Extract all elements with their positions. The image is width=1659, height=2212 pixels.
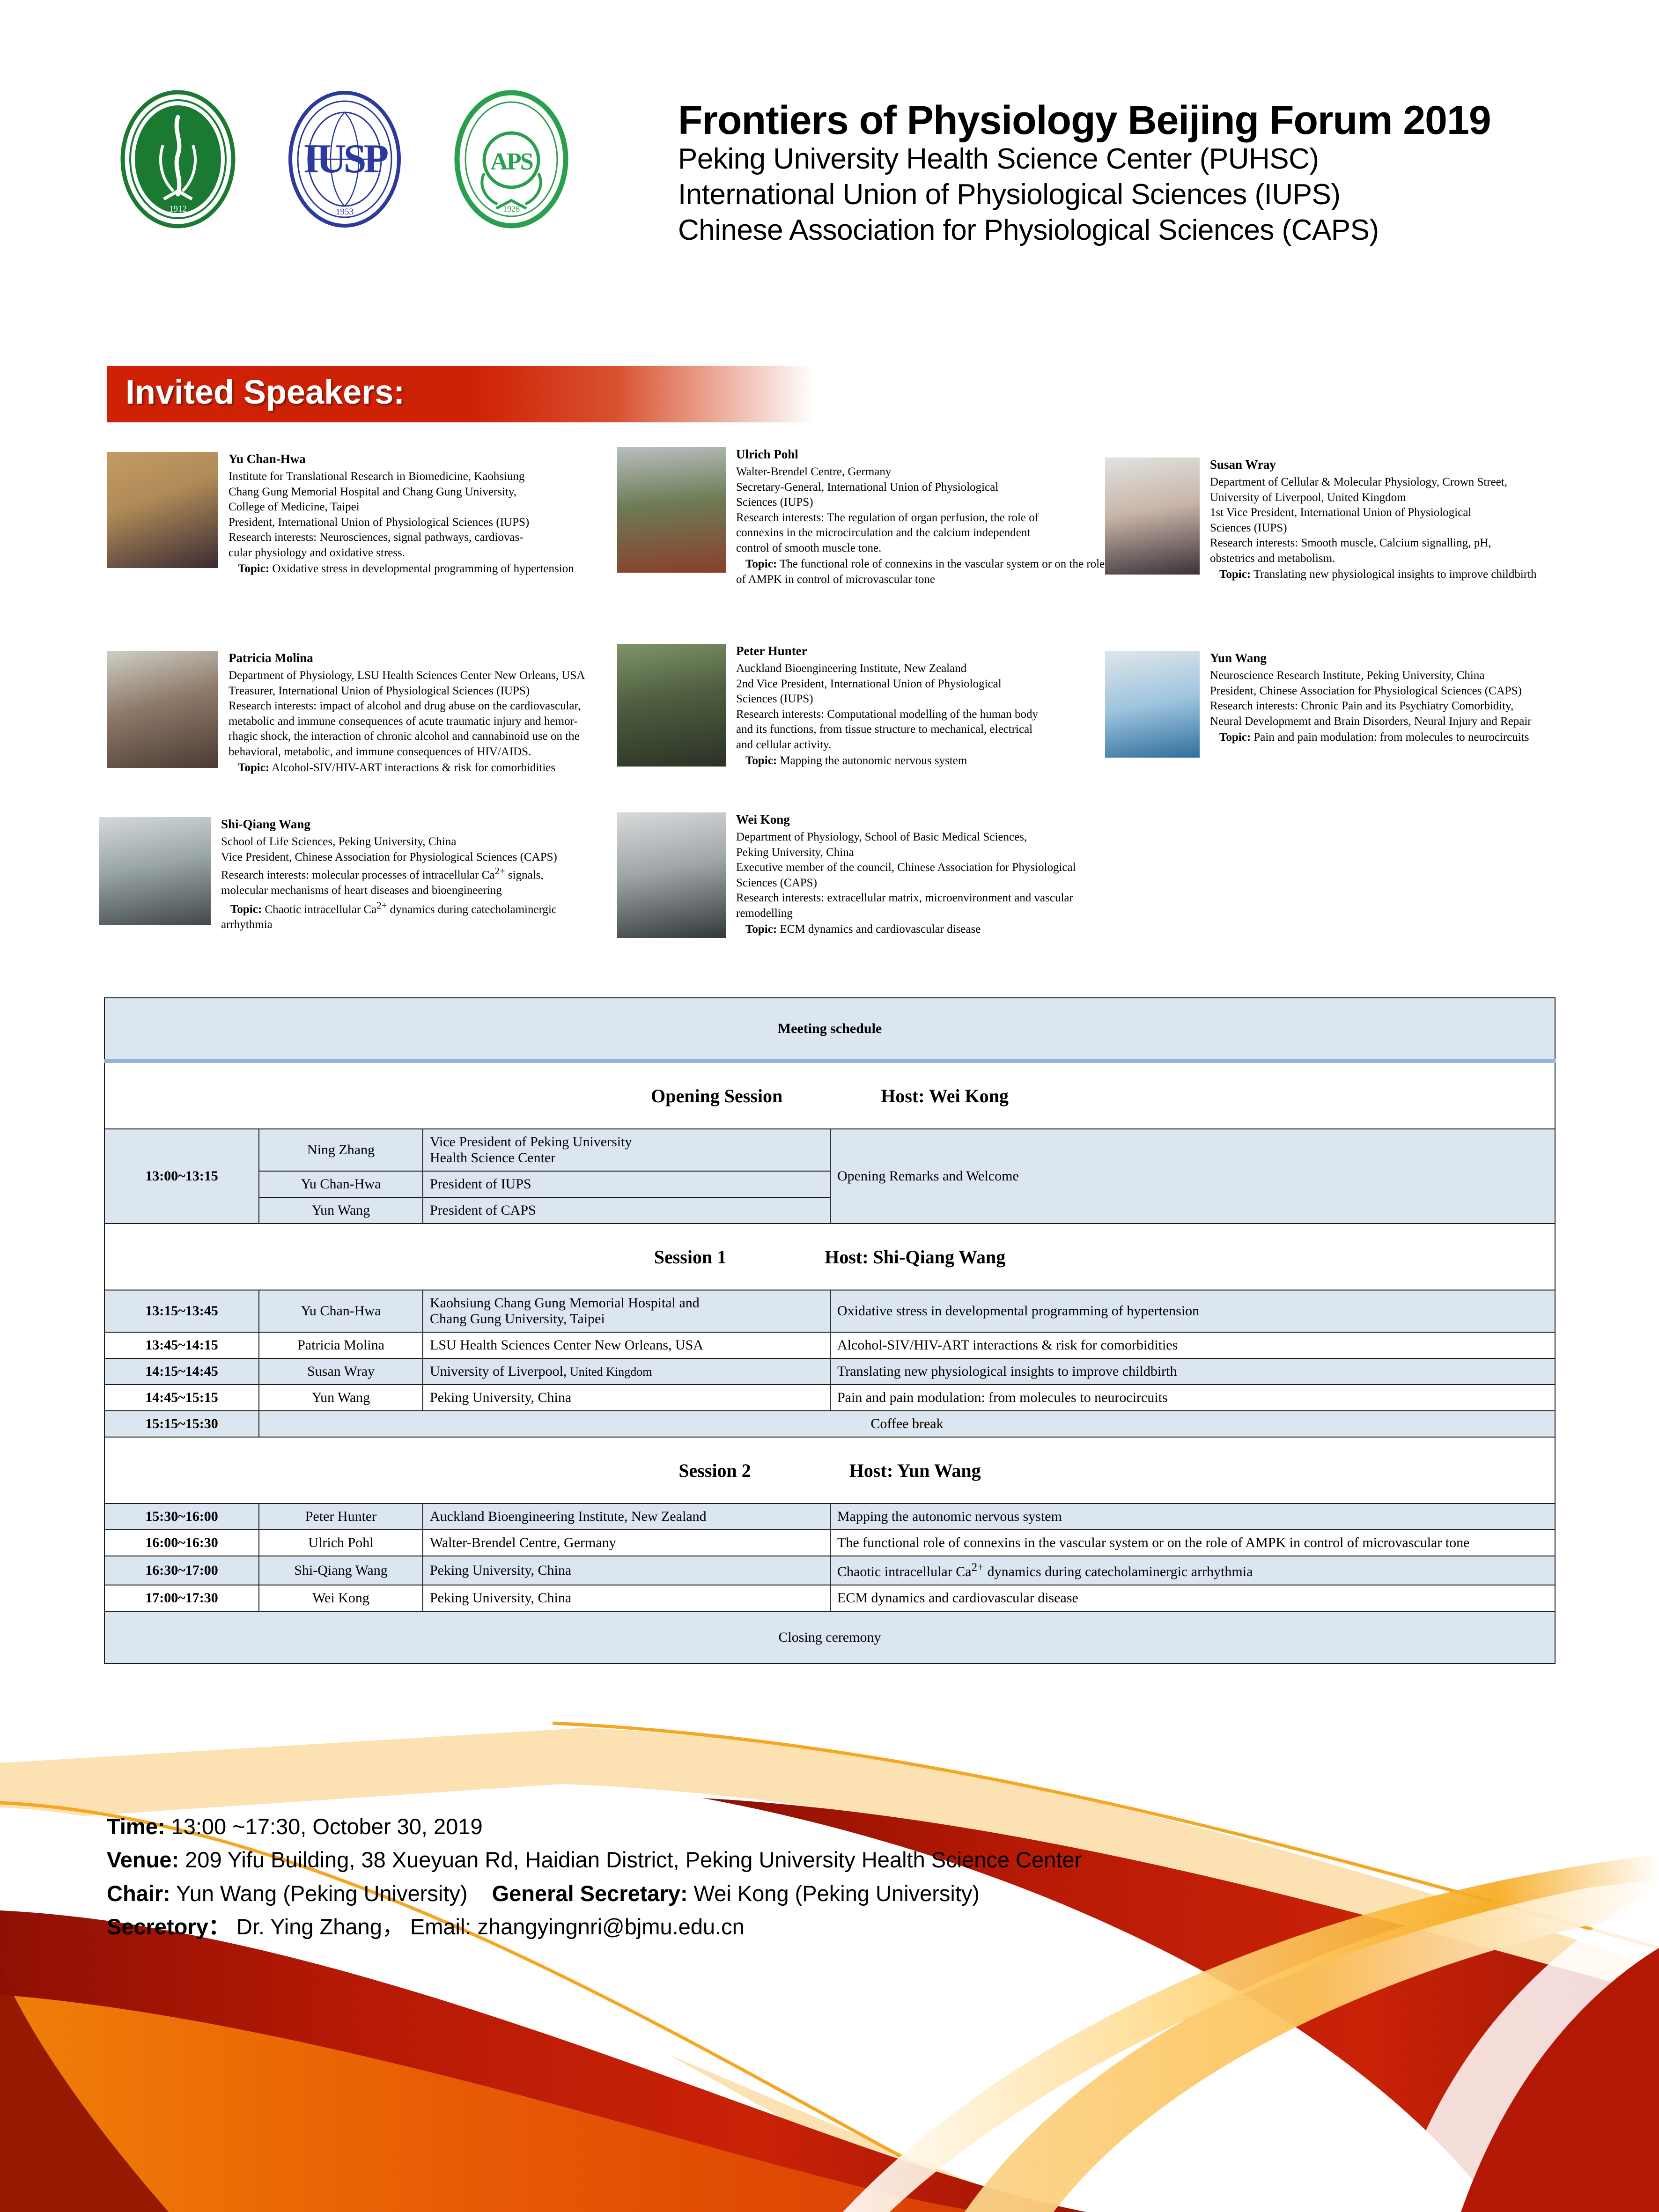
footer-time-line: Time: 13:00 ~17:30, October 30, 2019 [107,1810,1082,1843]
footer-secretory-line: Secretory： Dr. Ying Zhang， Email: zhangy… [107,1910,1082,1943]
table-row-opening-header: Opening Session Host: Wei Kong [104,1061,1555,1129]
speaker-name: Ulrich Pohl [736,447,1111,462]
speaker-line: connexins in the microcirculation and th… [736,525,1111,541]
speaker-line: obstetrics and metabolism. [1210,551,1589,567]
speaker-name: Shi-Qiang Wang [221,817,596,832]
topic-text: The functional role of connexins in the … [736,558,1105,586]
speaker-photo [1105,651,1200,758]
speaker-line: Treasurer, International Union of Physio… [229,684,603,699]
speaker-line: Neural Developmemt and Brain Disorders, … [1210,714,1589,730]
speaker-card-shi-qiang-wang: Shi-Qiang Wang School of Life Sciences, … [99,817,600,933]
org-line-1: Peking University Health Science Center … [678,141,1491,177]
table-row: 14:45~15:15 Yun Wang Peking University, … [104,1385,1555,1411]
cell-closing-label: Closing ceremony [104,1611,1555,1664]
table-row-closing: Closing ceremony [104,1611,1555,1664]
cell-topic: Pain and pain modulation: from molecules… [830,1385,1555,1411]
session1-host: Host: Shi-Qiang Wang [825,1246,1005,1268]
session2-host: Host: Yun Wang [849,1460,981,1482]
table-row-title: Meeting schedule [104,998,1555,1061]
speaker-topic: Topic: Mapping the autonomic nervous sys… [736,753,1111,769]
cell-topic: Chaotic intracellular Ca2+ dynamics duri… [830,1556,1555,1585]
speaker-topic: Topic: Translating new physiological ins… [1210,567,1589,582]
cell-name: Ulrich Pohl [259,1530,423,1556]
cell-name: Patricia Molina [259,1332,423,1358]
speaker-line: Research interests: impact of alcohol an… [229,699,603,714]
speaker-name: Susan Wray [1210,457,1589,472]
chair-label: Chair: [107,1881,170,1906]
role-line-2: Health Science Center [430,1150,823,1166]
session1-label: Session 1 [654,1246,727,1268]
speaker-line: Research interests: molecular processes … [221,865,596,883]
speaker-topic: Topic: Oxidative stress in developmental… [229,561,598,577]
topic-text: Translating new physiological insights t… [1253,568,1537,581]
speaker-line: College of Medicine, Taipei [229,500,598,515]
cell-affiliation: University of Liverpool, United Kingdom [423,1358,830,1385]
time-label: Time: [107,1814,165,1839]
cell-topic: Alcohol-SIV/HIV-ART interactions & risk … [830,1332,1555,1358]
cell-affiliation: Peking University, China [423,1585,830,1611]
speaker-line: molecular mechanisms of heart diseases a… [221,883,596,899]
speaker-line: Chang Gung Memorial Hospital and Chang G… [229,485,598,500]
speaker-topic: Topic: The functional role of connexins … [736,557,1111,587]
speaker-photo [617,812,726,938]
speaker-line: Peking University, China [736,845,1111,861]
svg-text:IUSP: IUSP [303,136,388,182]
speaker-line: School of Life Sciences, Peking Universi… [221,834,596,850]
speaker-line: Auckland Bioengineering Institute, New Z… [736,661,1111,677]
table-row: 16:30~17:00 Shi-Qiang Wang Peking Univer… [104,1556,1555,1585]
footer-chair-line: Chair: Yun Wang (Peking University)Gener… [107,1877,1082,1910]
table-row-coffee-break: 15:15~15:30 Coffee break [104,1411,1555,1437]
speaker-line: Sciences (IUPS) [736,692,1111,707]
topic-text: Mapping the autonomic nervous system [780,754,967,767]
role-line-1: Vice President of Peking University [430,1134,823,1150]
aff-line-1: Kaohsiung Chang Gung Memorial Hospital a… [430,1295,823,1311]
cell-affiliation: Peking University, China [423,1385,830,1411]
cell-time: 13:45~14:15 [104,1332,259,1358]
speaker-line: control of smooth muscle tone. [736,541,1111,556]
speaker-photo [1105,457,1200,575]
topic-text: Chaotic intracellular Ca2+ dynamics duri… [221,903,557,931]
speaker-line: and cellular activity. [736,737,1111,753]
topic-label: Topic: [238,562,269,575]
time-value: 13:00 ~17:30, October 30, 2019 [165,1814,483,1839]
speaker-line: Walter-Brendel Centre, Germany [736,465,1111,480]
cell-name: Wei Kong [259,1585,423,1611]
cell-affiliation: Walter-Brendel Centre, Germany [423,1530,830,1556]
schedule-title: Meeting schedule [104,998,1555,1061]
page-title: Frontiers of Physiology Beijing Forum 20… [678,99,1491,141]
speaker-line: President, International Union of Physio… [229,515,598,531]
speaker-card-yun-wang: Yun Wang Neuroscience Research Institute… [1105,651,1601,758]
speaker-photo [107,651,218,768]
speaker-photo [617,447,726,573]
speaker-line: Vice President, Chinese Association for … [221,850,596,865]
speaker-card-wei-kong: Wei Kong Department of Physiology, Schoo… [617,812,1123,938]
speaker-line: Research interests: The regulation of or… [736,510,1111,526]
table-row: 17:00~17:30 Wei Kong Peking University, … [104,1585,1555,1611]
cell-topic: ECM dynamics and cardiovascular disease [830,1585,1555,1611]
speaker-line: President, Chinese Association for Physi… [1210,684,1589,699]
cell-time: 13:15~13:45 [104,1290,259,1332]
speaker-line: remodelling [736,906,1111,922]
speaker-name: Yun Wang [1210,651,1589,665]
cell-affiliation: LSU Health Sciences Center New Orleans, … [423,1332,830,1358]
topic-label: Topic: [1219,568,1251,581]
speaker-line: Research interests: Chronic Pain and its… [1210,699,1589,714]
cell-affiliation: Kaohsiung Chang Gung Memorial Hospital a… [423,1290,830,1332]
svg-text:APS: APS [490,148,532,175]
cell-time: 14:45~15:15 [104,1385,259,1411]
topic-text: Pain and pain modulation: from molecules… [1253,731,1529,744]
cell-topic: Mapping the autonomic nervous system [830,1504,1555,1530]
cell-topic: Oxidative stress in developmental progra… [830,1290,1555,1332]
table-row: 15:30~16:00 Peter Hunter Auckland Bioeng… [104,1504,1555,1530]
poster-header: 1912 IUSP 1953 APS 1926 [0,89,1659,290]
cell-time: 16:00~16:30 [104,1530,259,1556]
topic-text: Oxidative stress in developmental progra… [272,562,574,575]
speaker-line: Research interests: Smooth muscle, Calci… [1210,536,1589,551]
iups-logo: IUSP 1953 [274,89,415,229]
speaker-name: Peter Hunter [736,644,1111,658]
title-block: Frontiers of Physiology Beijing Forum 20… [678,99,1491,248]
topic-label: Topic: [745,754,777,767]
cell-role: Vice President of Peking University Heal… [423,1129,830,1171]
venue-label: Venue: [107,1847,179,1872]
speaker-line: Secretary-General, International Union o… [736,480,1111,495]
svg-text:1912: 1912 [169,204,187,214]
aff-line-2: Chang Gung University, Taipei [430,1311,823,1327]
table-row: 14:15~14:45 Susan Wray University of Liv… [104,1358,1555,1385]
speaker-photo [107,452,218,568]
meeting-schedule-table: Meeting schedule Opening Session Host: W… [104,997,1556,1664]
cell-affiliation: Peking University, China [423,1556,830,1585]
chair-value: Yun Wang (Peking University) [170,1881,468,1906]
speaker-topic: Topic: Pain and pain modulation: from mo… [1210,730,1589,745]
topic-label: Topic: [1219,731,1251,744]
speaker-line: behavioral, metabolic, and immune conseq… [229,745,603,760]
speaker-line: Sciences (IUPS) [736,495,1111,510]
venue-value: 209 Yifu Building, 38 Xueyuan Rd, Haidia… [179,1847,1082,1872]
speaker-line: Department of Physiology, School of Basi… [736,830,1111,845]
session2-label: Session 2 [678,1460,751,1482]
general-secretary-value: Wei Kong (Peking University) [688,1881,980,1906]
speaker-line: Sciences (IUPS) [1210,521,1589,536]
cell-name: Yun Wang [259,1385,423,1411]
speaker-line: Executive member of the council, Chinese… [736,860,1111,876]
cell-name: Peter Hunter [259,1504,423,1530]
topic-text: Alcohol-SIV/HIV-ART interactions & risk … [272,761,555,774]
opening-session-host: Host: Wei Kong [881,1085,1009,1107]
speaker-card-susan-wray: Susan Wray Department of Cellular & Mole… [1105,457,1601,582]
topic-label: Topic: [745,923,777,936]
cell-break-label: Coffee break [259,1411,1555,1437]
secretory-value: Dr. Ying Zhang， Email: zhangyingnri@bjmu… [230,1914,745,1939]
speaker-line: University of Liverpool, United Kingdom [1210,490,1589,506]
speaker-line: Department of Physiology, LSU Health Sci… [229,668,603,684]
speaker-line: Sciences (CAPS) [736,876,1111,891]
cell-role: President of CAPS [423,1197,830,1224]
cell-time: 16:30~17:00 [104,1556,259,1585]
speaker-name: Patricia Molina [229,651,603,665]
topic-label: Topic: [230,903,262,916]
topic-text: ECM dynamics and cardiovascular disease [780,923,981,936]
speaker-photo [617,644,726,767]
speaker-line: cular physiology and oxidative stress. [229,546,598,561]
speaker-line: rhagic shock, the interaction of chronic… [229,729,603,745]
puhsc-logo: 1912 [108,89,248,229]
footer-venue-line: Venue: 209 Yifu Building, 38 Xueyuan Rd,… [107,1843,1082,1876]
table-row: 13:45~14:15 Patricia Molina LSU Health S… [104,1332,1555,1358]
svg-text:1953: 1953 [336,207,354,217]
cell-remarks: Opening Remarks and Welcome [830,1129,1555,1224]
cell-name: Ning Zhang [259,1129,423,1171]
cell-time: 15:30~16:00 [104,1504,259,1530]
speaker-line: Research interests: Computational modell… [736,707,1111,723]
speaker-line: Neuroscience Research Institute, Peking … [1210,668,1589,684]
secretory-label: Secretory： [107,1914,230,1939]
speaker-line: and its functions, from tissue structure… [736,722,1111,737]
cell-name: Yun Wang [259,1197,423,1224]
cell-name: Susan Wray [259,1358,423,1385]
cell-affiliation: Auckland Bioengineering Institute, New Z… [423,1504,830,1530]
speaker-line: metabolic and immune consequences of acu… [229,714,603,730]
cell-time: 14:15~14:45 [104,1358,259,1385]
org-line-2: International Union of Physiological Sci… [678,177,1491,213]
org-line-3: Chinese Association for Physiological Sc… [678,213,1491,248]
table-row: 13:00~13:15 Ning Zhang Vice President of… [104,1129,1555,1171]
logo-row: 1912 IUSP 1953 APS 1926 [108,89,582,229]
table-row-session1-header: Session 1 Host: Shi-Qiang Wang [104,1224,1555,1290]
topic-label: Topic: [238,761,269,774]
speaker-name: Wei Kong [736,812,1111,827]
table-row: 13:15~13:45 Yu Chan-Hwa Kaohsiung Chang … [104,1290,1555,1332]
cell-topic: Translating new physiological insights t… [830,1358,1555,1385]
invited-speakers-label: Invited Speakers: [125,373,405,412]
cell-name: Yu Chan-Hwa [259,1290,423,1332]
aff-country: United Kingdom [567,1365,652,1379]
speaker-topic: Topic: ECM dynamics and cardiovascular d… [736,922,1111,937]
cell-name: Shi-Qiang Wang [259,1556,423,1585]
footer-info: Time: 13:00 ~17:30, October 30, 2019 Ven… [107,1810,1082,1944]
cell-time: 17:00~17:30 [104,1585,259,1611]
speaker-line: Research interests: extracellular matrix… [736,891,1111,906]
speaker-line: Institute for Translational Research in … [229,469,598,485]
speaker-card-patricia-molina: Patricia Molina Department of Physiology… [107,651,608,776]
cell-time: 15:15~15:30 [104,1411,259,1437]
speaker-photo [99,817,211,925]
table-row: 16:00~16:30 Ulrich Pohl Walter-Brendel C… [104,1530,1555,1556]
table-row-session2-header: Session 2 Host: Yun Wang [104,1437,1555,1504]
speaker-line: 1st Vice President, International Union … [1210,505,1589,521]
speaker-card-yu-chan-hwa: Yu Chan-Hwa Institute for Translational … [107,452,608,577]
speaker-line: Department of Cellular & Molecular Physi… [1210,475,1589,490]
speaker-topic: Topic: Chaotic intracellular Ca2+ dynami… [221,899,596,932]
cell-role: President of IUPS [423,1171,830,1197]
opening-session-label: Opening Session [651,1085,782,1107]
aff-text: University of Liverpool, [430,1364,567,1379]
cell-topic: The functional role of connexins in the … [830,1530,1555,1556]
caps-logo: APS 1926 [441,89,582,229]
speaker-card-peter-hunter: Peter Hunter Auckland Bioengineering Ins… [617,644,1123,769]
speaker-line: 2nd Vice President, International Union … [736,677,1111,692]
cell-time: 13:00~13:15 [104,1129,259,1224]
speaker-line: Research interests: Neurosciences, signa… [229,530,598,546]
speaker-card-ulrich-pohl: Ulrich Pohl Walter-Brendel Centre, Germa… [617,447,1123,587]
general-secretary-label: General Secretary: [492,1881,688,1906]
cell-name: Yu Chan-Hwa [259,1171,423,1197]
topic-label: Topic: [745,558,777,570]
speaker-topic: Topic: Alcohol-SIV/HIV-ART interactions … [229,760,603,776]
svg-text:1926: 1926 [503,204,520,214]
speaker-name: Yu Chan-Hwa [229,452,598,466]
